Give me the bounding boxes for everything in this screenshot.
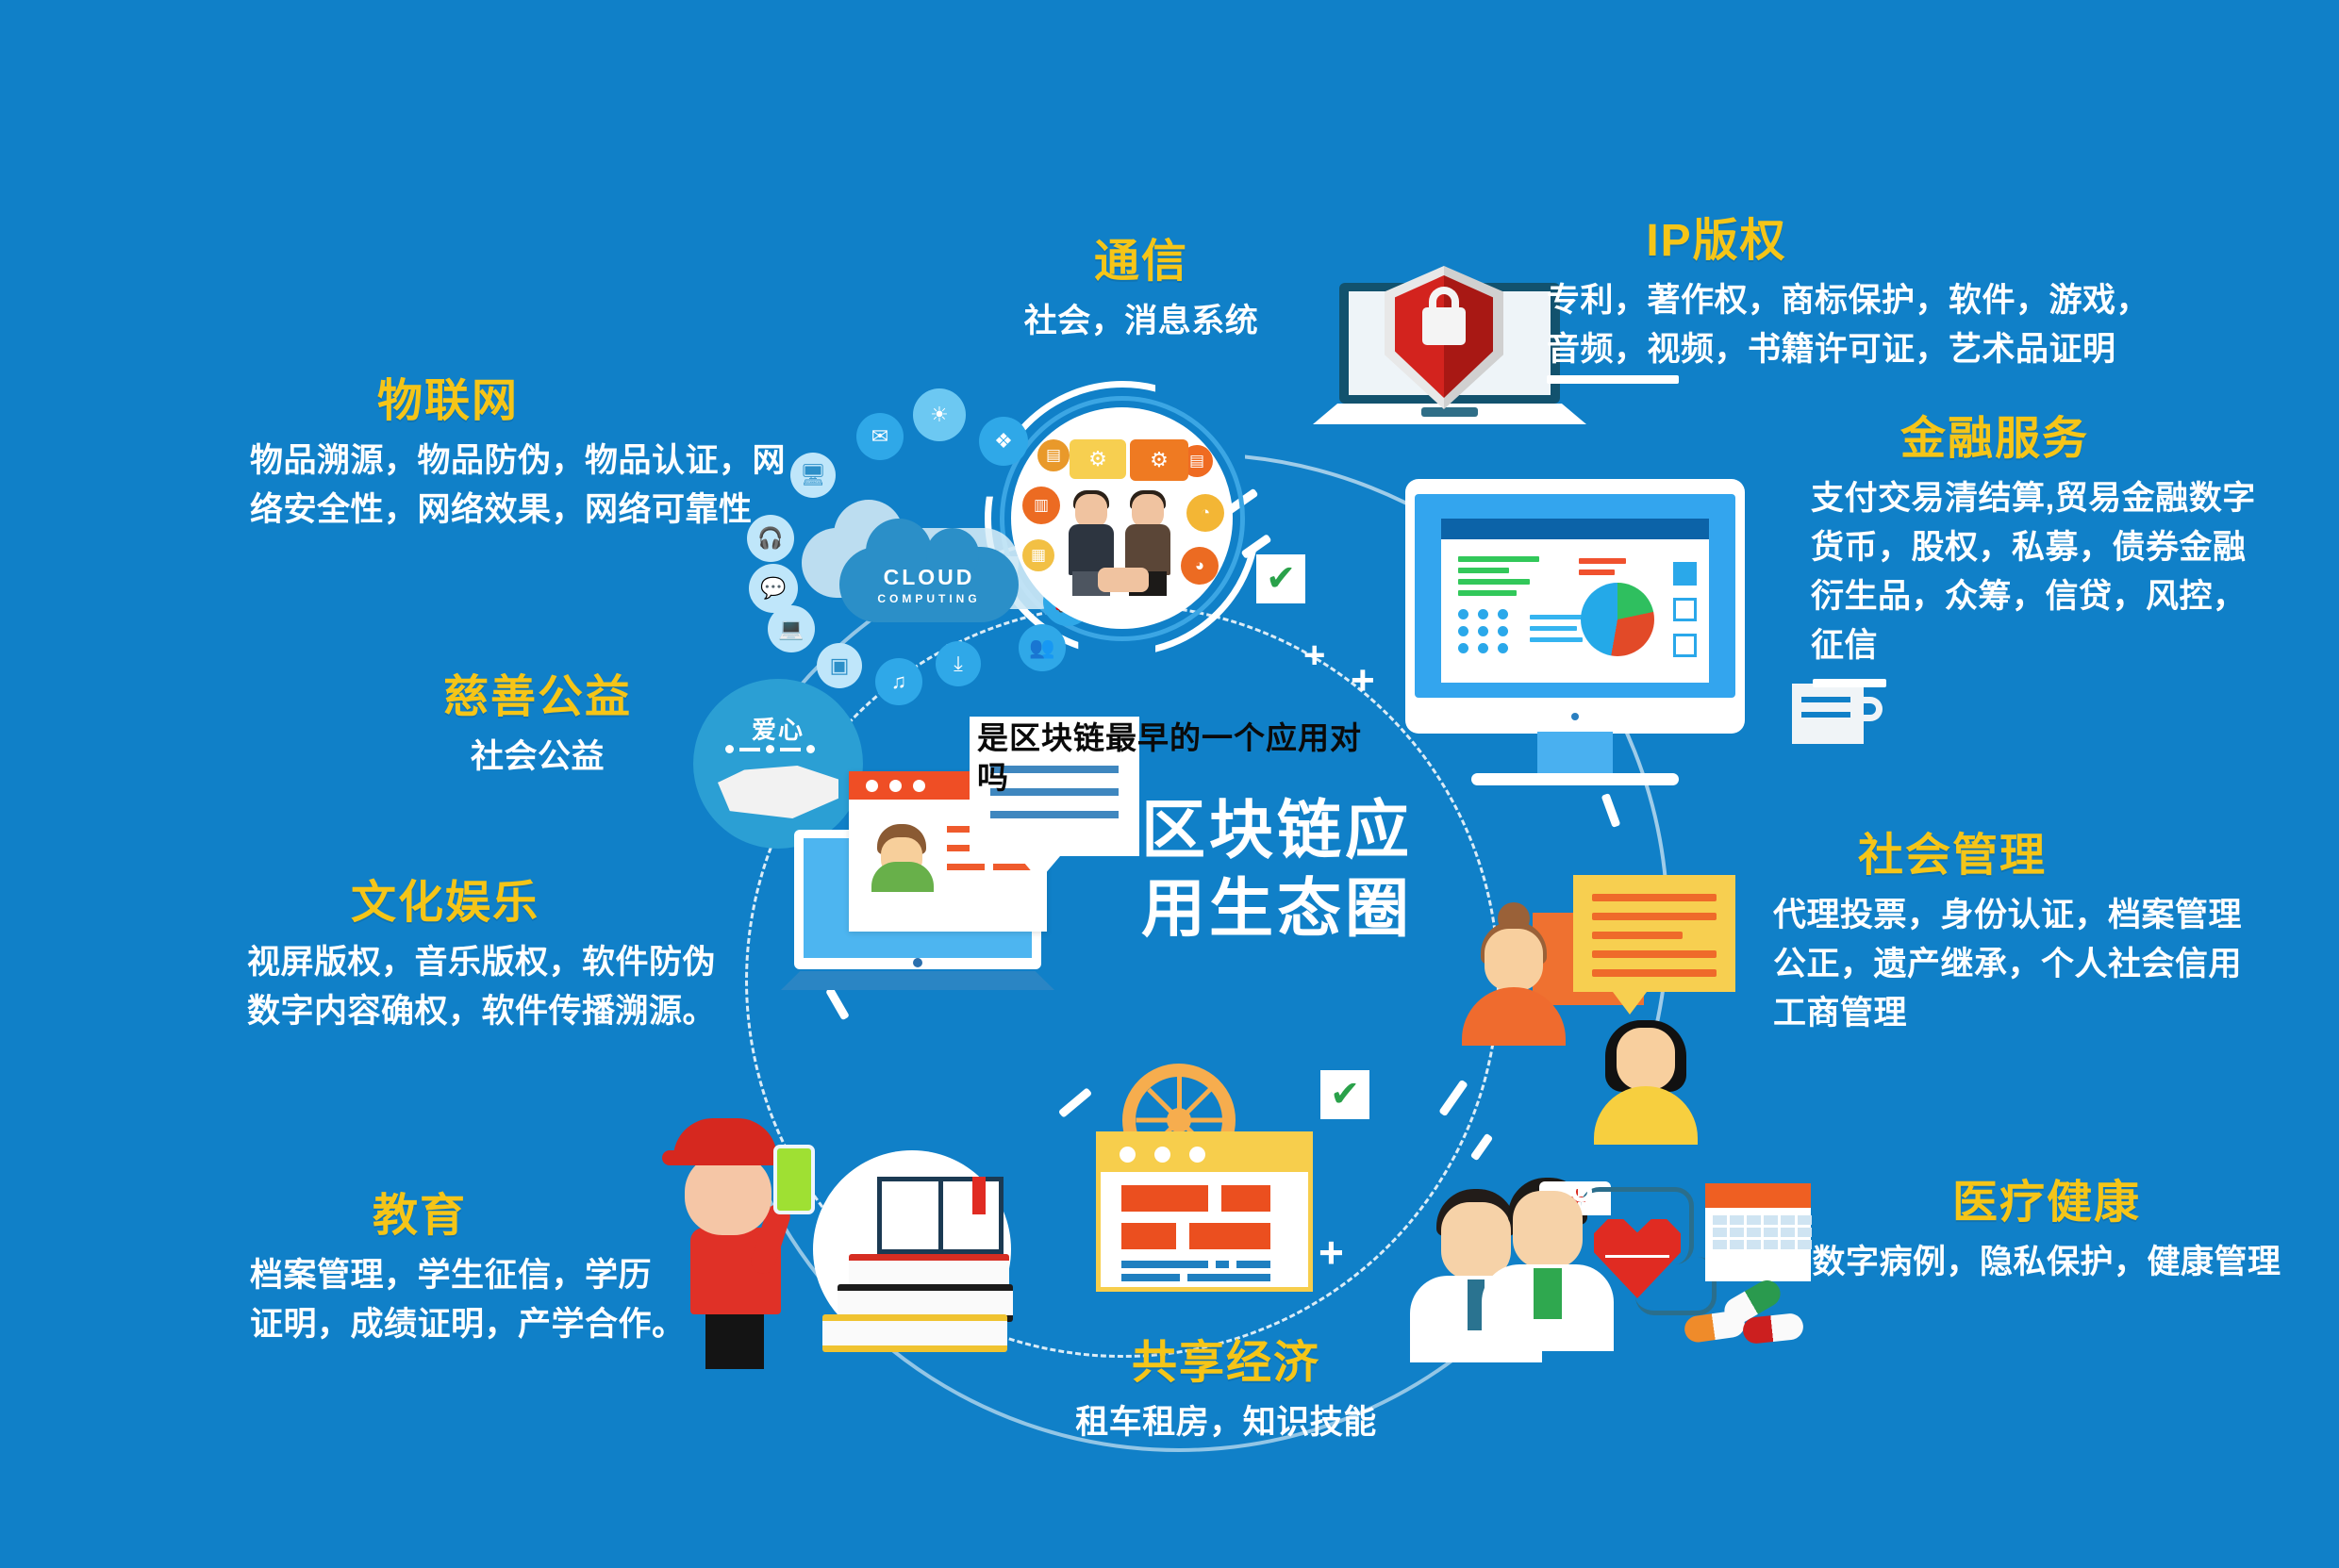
- cloud-main-shape: CLOUD COMPUTING: [839, 547, 1019, 622]
- laptop-icon: 💻: [768, 605, 815, 652]
- section-iot-body: 物品溯源，物品防伪，物品认证，网 络安全性，网络效果，网络可靠性: [250, 437, 835, 535]
- section-healthcare-heading: 医疗健康: [1792, 1177, 2301, 1229]
- section-ip-copyright-body: 专利，著作权，商标保护，软件，游戏， 音频，视频，书籍许可证，艺术品证明: [1547, 276, 2226, 374]
- handshake-hands: [1098, 568, 1149, 592]
- section-sharing-economy-heading: 共享经济: [1037, 1337, 1415, 1389]
- book-yellow: [822, 1314, 1007, 1352]
- section-communication-body: 社会，消息系统: [943, 297, 1339, 346]
- heartbeat-icon: [1594, 1219, 1681, 1298]
- briefcase-icon: ▤: [1037, 439, 1070, 471]
- ip-copyright-underline: [1547, 375, 1679, 384]
- charity-heart-illustration: 爱心: [693, 679, 863, 849]
- section-healthcare: 医疗健康 数字病例，隐私保护，健康管理: [1792, 1177, 2301, 1287]
- music-icon: ♫: [875, 658, 922, 705]
- people-icon: 👥: [1019, 624, 1066, 671]
- charity-badge-label: 爱心: [693, 711, 863, 746]
- person-yellow: [1594, 1028, 1698, 1150]
- gear-speech-bubble-left: ⚙: [1070, 439, 1126, 479]
- stethoscope-earpiece: [1571, 1181, 1592, 1202]
- infographic-canvas: CLOUD COMPUTING ✉ ☀ ❖ 👕 🖥 🎧 ▯ 💬 💻 🚗 👥 ▣ …: [0, 0, 2339, 1568]
- section-sharing-economy-body: 租车租房，知识技能: [1037, 1398, 1415, 1447]
- section-iot: 物联网 物品溯源，物品防伪，物品认证，网 络安全性，网络效果，网络可靠性: [250, 375, 835, 535]
- lightbulb-icon: ☀: [913, 388, 966, 441]
- clock-icon: ◕: [1181, 547, 1219, 585]
- check-badge-bottom: ✔: [1320, 1070, 1369, 1119]
- giving-hand-icon: [718, 766, 838, 818]
- handshake-illustration: ▤ ▥ ▦ ▤ ◔ ◕ ⚙ ⚙: [1011, 407, 1233, 629]
- section-culture-entertainment-body: 视屏版权，音乐版权，软件防伪 数字内容确权，软件传播溯源。: [247, 938, 813, 1036]
- dashboard-monitor-illustration: [1405, 479, 1745, 734]
- section-iot-heading: 物联网: [250, 375, 646, 427]
- calendar-card-illustration: [1096, 1131, 1313, 1292]
- section-education-body: 档案管理，学生征信，学历 证明，成绩证明，产学合作。: [250, 1251, 797, 1349]
- section-education: 教育 档案管理，学生征信，学历 证明，成绩证明，产学合作。: [250, 1190, 797, 1349]
- calculator-icon: ▦: [1022, 539, 1054, 571]
- plus-sign-b: +: [1351, 660, 1375, 701]
- section-charity: 慈善公益 社会公益: [358, 671, 717, 782]
- mail-icon: ✉: [856, 413, 904, 460]
- chat-bubble-front: [1573, 875, 1735, 992]
- social-icon: ❖: [979, 417, 1028, 466]
- section-charity-body: 社会公益: [358, 733, 717, 782]
- center-title: 区块链应 用生态圈: [1141, 792, 1481, 949]
- section-communication-heading: 通信: [943, 236, 1339, 288]
- section-communication: 通信 社会，消息系统: [943, 236, 1339, 346]
- section-social-management-body: 代理投票，身份认证，档案管理 公正，遗产继承，个人社会信用 工商管理: [1773, 891, 2301, 1037]
- coffee-mug-icon: [1792, 684, 1864, 744]
- check-icon: ✔: [1266, 561, 1296, 597]
- section-financial-services-body: 支付交易清结算,贸易金融数字 货币，股权，私募，债券金融 衍生品，众筹，信贷，风…: [1811, 474, 2282, 669]
- section-healthcare-body: 数字病例，隐私保护，健康管理: [1792, 1238, 2301, 1287]
- washer-icon: ▣: [817, 643, 862, 688]
- charity-dot-row: [725, 745, 815, 753]
- financial-underline: [1813, 679, 1886, 687]
- plus-sign-c: +: [1319, 1230, 1344, 1274]
- open-book-icon: [877, 1177, 1004, 1254]
- capsule-red: [1742, 1312, 1805, 1345]
- download-icon: ⤓: [936, 641, 981, 686]
- section-charity-heading: 慈善公益: [358, 671, 717, 723]
- section-culture-entertainment: 文化娱乐 视屏版权，音乐版权，软件防伪 数字内容确权，软件传播溯源。: [247, 877, 813, 1036]
- check-badge-top: ✔: [1256, 554, 1305, 603]
- gear-speech-bubble-right: ⚙: [1130, 439, 1188, 481]
- section-financial-services: 金融服务 支付交易清结算,贸易金融数字 货币，股权，私募，债券金融 衍生品，众筹…: [1811, 413, 2282, 669]
- overlay-annotation-text: 是区块链最早的一个应用对吗: [977, 718, 1392, 798]
- section-financial-services-heading: 金融服务: [1811, 413, 2179, 465]
- section-culture-entertainment-heading: 文化娱乐: [247, 877, 643, 929]
- bar-chart-icon: ▥: [1022, 487, 1060, 524]
- section-ip-copyright: IP版权 专利，著作权，商标保护，软件，游戏， 音频，视频，书籍许可证，艺术品证…: [1547, 215, 2226, 374]
- section-social-management-heading: 社会管理: [1773, 830, 2132, 882]
- section-education-heading: 教育: [250, 1190, 589, 1242]
- cloud-label-secondary: COMPUTING: [877, 592, 980, 605]
- pie-chart-icon: ◔: [1186, 494, 1224, 532]
- plus-sign-a: +: [1303, 636, 1325, 674]
- cloud-label-primary: CLOUD: [884, 565, 975, 590]
- healthcare-illustration: [1405, 1155, 1820, 1372]
- section-ip-copyright-heading: IP版权: [1547, 215, 1886, 267]
- section-social-management: 社会管理 代理投票，身份认证，档案管理 公正，遗产继承，个人社会信用 工商管理: [1773, 830, 2301, 1038]
- section-sharing-economy: 共享经济 租车租房，知识技能: [1037, 1337, 1415, 1447]
- check-icon: ✔: [1330, 1077, 1360, 1113]
